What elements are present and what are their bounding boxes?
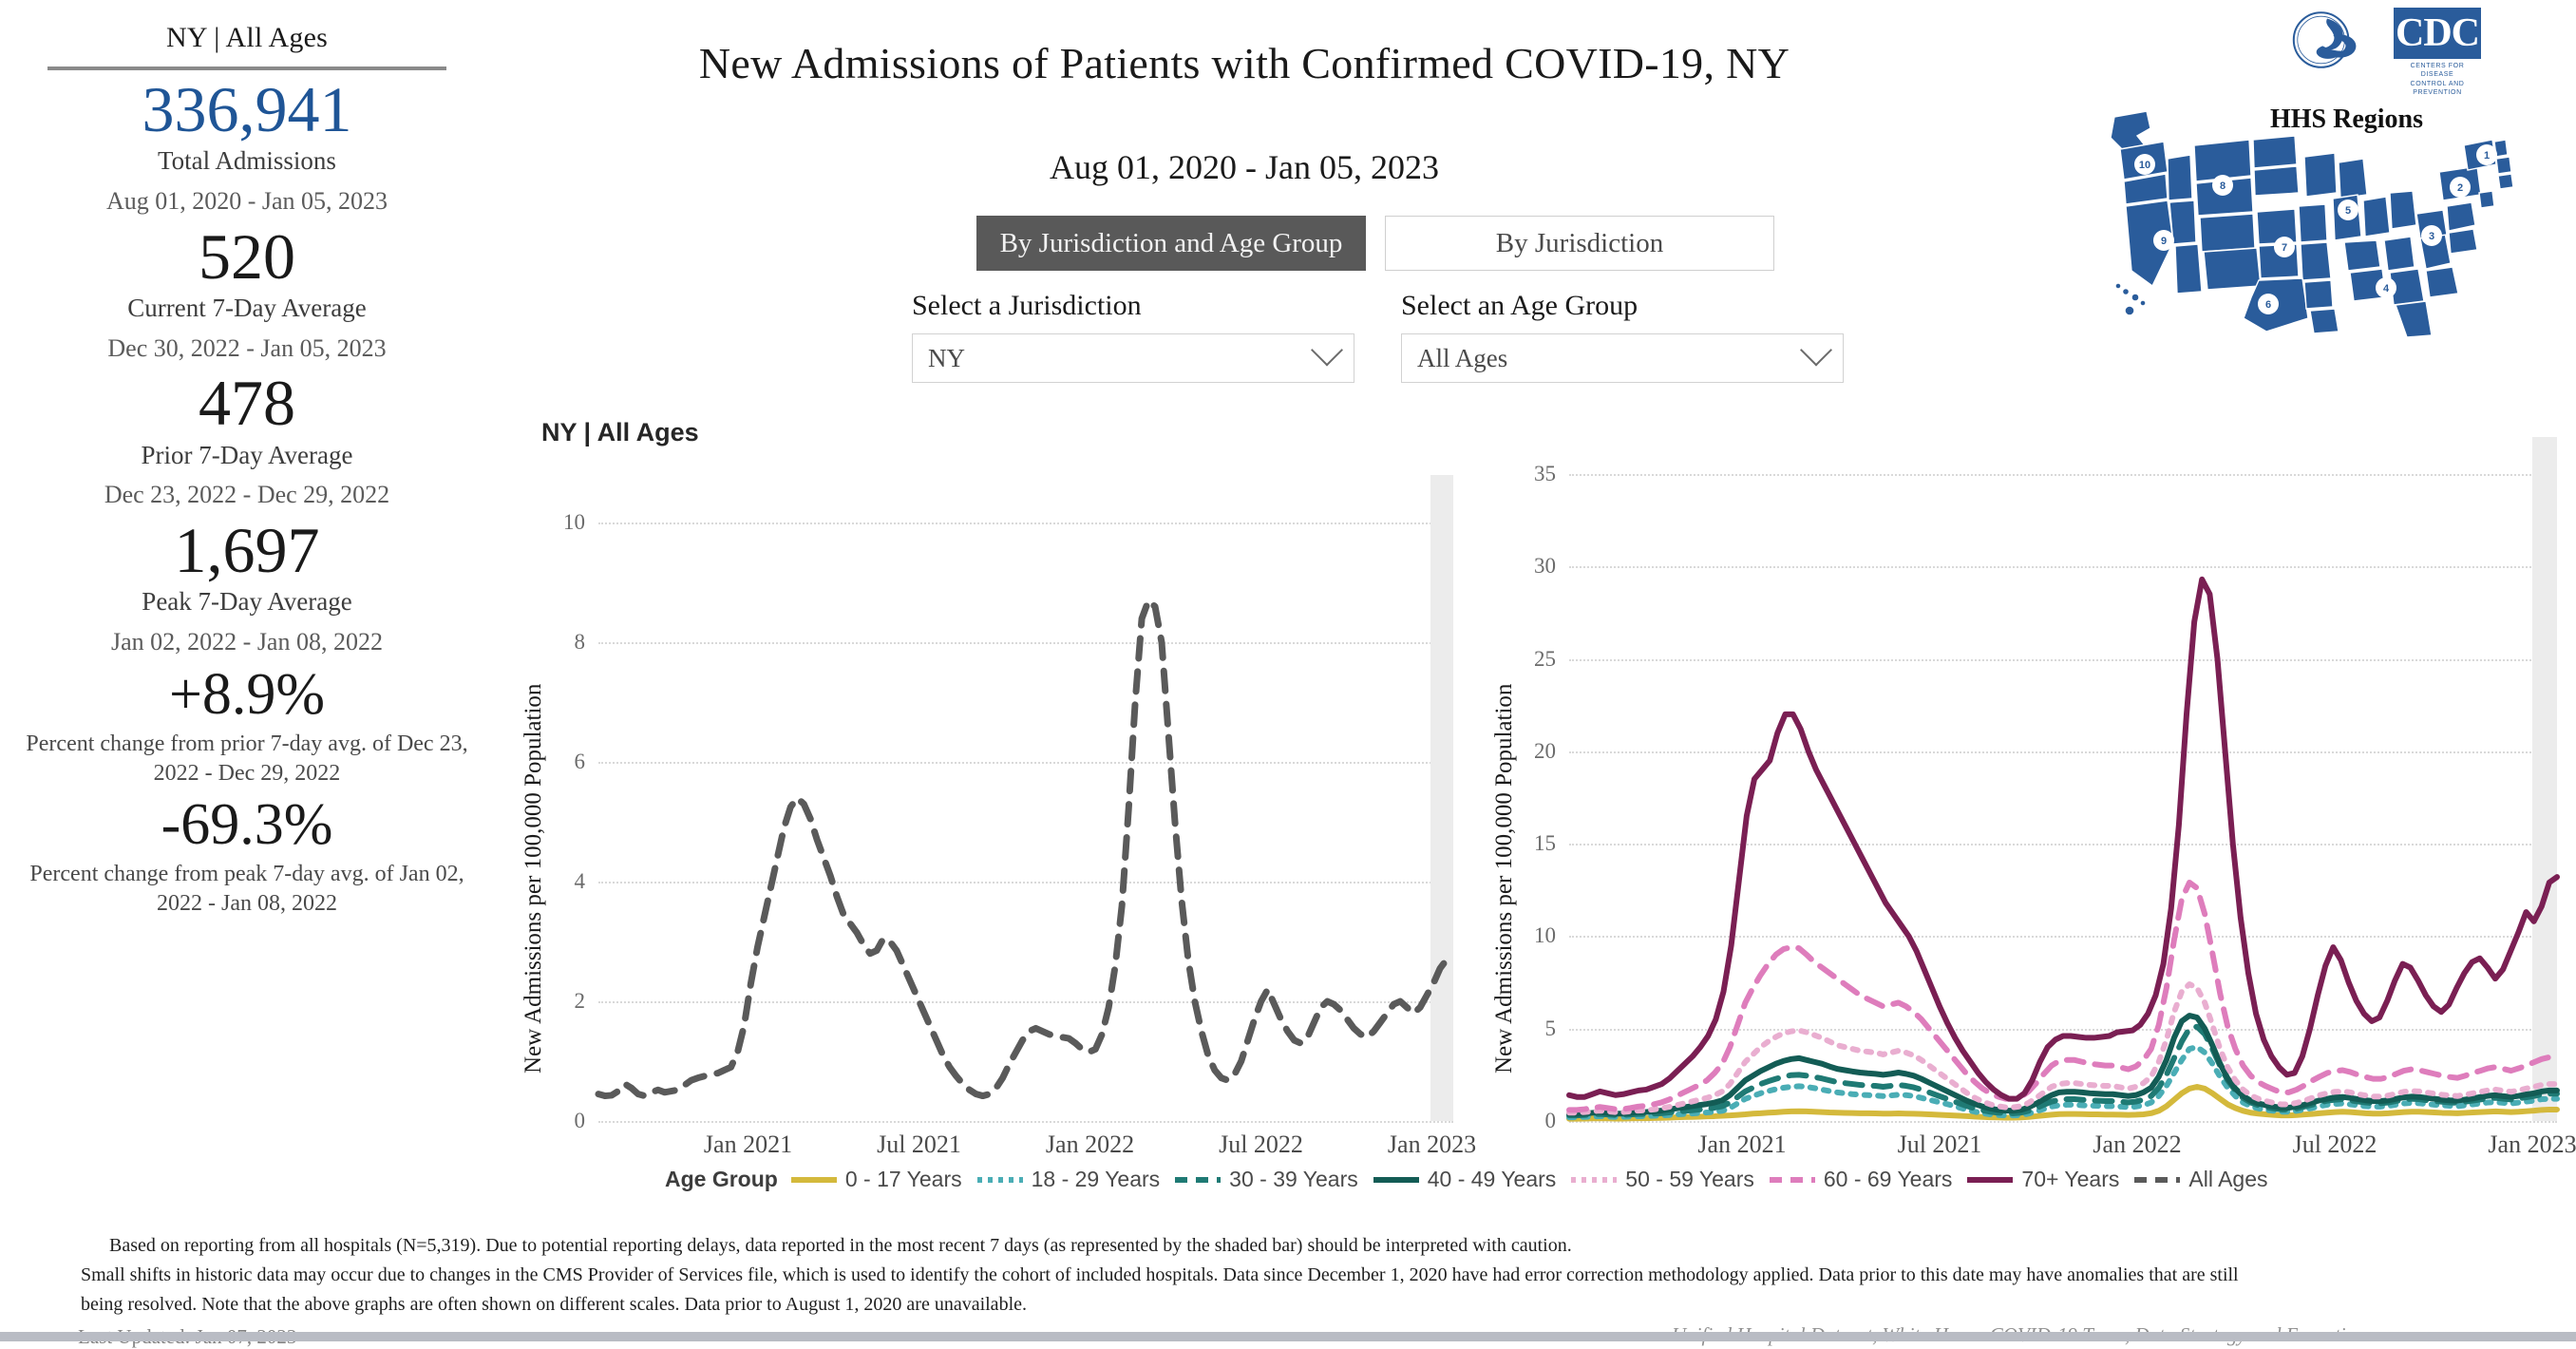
- legend-color-swatch: [977, 1177, 1023, 1183]
- legend-label: 50 - 59 Years: [1625, 1167, 1754, 1192]
- x-axis-tick-label: Jan 2022: [1046, 1130, 1134, 1159]
- legend-color-swatch: [1373, 1177, 1419, 1183]
- y-axis-tick-label: 6: [555, 750, 585, 774]
- series-line: [1569, 579, 2557, 1099]
- kpi-value: 478: [0, 370, 494, 437]
- svg-text:4: 4: [2383, 283, 2390, 294]
- legend-label: 30 - 39 Years: [1229, 1167, 1358, 1192]
- chart-series-svg: [598, 475, 1453, 1121]
- kpi-description: Percent change from peak 7-day avg. of J…: [0, 860, 494, 919]
- chart-left-y-axis-title: New Admissions per 100,000 Population: [521, 684, 547, 1073]
- kpi-block: 336,941Total AdmissionsAug 01, 2020 - Ja…: [0, 76, 494, 218]
- tab-by-jurisdiction[interactable]: By Jurisdiction: [1385, 216, 1774, 271]
- hhs-seal-logo: [2284, 2, 2370, 78]
- jurisdiction-select[interactable]: NY: [912, 333, 1354, 383]
- legend-item[interactable]: 50 - 59 Years: [1571, 1167, 1754, 1192]
- age-group-label: Select an Age Group: [1401, 290, 1844, 322]
- x-axis-tick-label: Jul 2021: [877, 1130, 961, 1159]
- x-axis-tick-label: Jul 2022: [2293, 1130, 2377, 1159]
- svg-text:5: 5: [2345, 205, 2351, 217]
- footnotes: Based on reporting from all hospitals (N…: [0, 1231, 2576, 1320]
- svg-text:6: 6: [2265, 299, 2271, 311]
- svg-text:1: 1: [2484, 150, 2490, 161]
- cdc-wordmark: CDC: [2394, 8, 2481, 59]
- kpi-divider: [47, 66, 446, 70]
- kpi-value: 336,941: [0, 76, 494, 143]
- series-line: [598, 600, 1453, 1095]
- svg-text:10: 10: [2139, 160, 2150, 171]
- x-axis-tick-label: Jan 2023: [1388, 1130, 1476, 1159]
- page-title: New Admissions of Patients with Confirme…: [494, 38, 1995, 88]
- legend-color-swatch: [1571, 1177, 1617, 1183]
- kpi-block: 478Prior 7-Day AverageDec 23, 2022 - Dec…: [0, 370, 494, 511]
- y-axis-tick-label: 10: [555, 510, 585, 535]
- cdc-tagline: CENTERS FOR DISEASECONTROL AND PREVENTIO…: [2394, 62, 2481, 98]
- y-axis-tick-label: 35: [1522, 462, 1556, 486]
- kpi-date-range: Dec 23, 2022 - Dec 29, 2022: [0, 480, 494, 511]
- legend-item[interactable]: 18 - 29 Years: [977, 1167, 1161, 1192]
- kpi-label: Peak 7-Day Average: [0, 586, 494, 618]
- y-axis-tick-label: 8: [555, 630, 585, 655]
- x-axis-tick-label: Jul 2021: [1898, 1130, 1982, 1159]
- kpi-block: -69.3%Percent change from peak 7-day avg…: [0, 794, 494, 919]
- kpi-value: -69.3%: [0, 794, 494, 856]
- svg-text:8: 8: [2220, 180, 2226, 192]
- age-group-select[interactable]: All Ages: [1401, 333, 1844, 383]
- grid-line: [1569, 1121, 2557, 1123]
- footnote-line-3: being resolved. Note that the above grap…: [0, 1290, 2576, 1320]
- legend-color-swatch: [1770, 1177, 1815, 1183]
- kpi-block: 1,697Peak 7-Day AverageJan 02, 2022 - Ja…: [0, 517, 494, 658]
- y-axis-tick-label: 25: [1522, 647, 1556, 672]
- footnote-line-2: Small shifts in historic data may occur …: [0, 1261, 2576, 1290]
- view-mode-toggle[interactable]: By Jurisdiction and Age Group By Jurisdi…: [976, 216, 1774, 271]
- bottom-band: [0, 1332, 2576, 1341]
- chart-left-plot: 0246810: [598, 475, 1453, 1121]
- svg-text:7: 7: [2282, 242, 2287, 254]
- age-group-legend: Age Group 0 - 17 Years18 - 29 Years30 - …: [665, 1167, 2280, 1192]
- legend-item[interactable]: 40 - 49 Years: [1373, 1167, 1557, 1192]
- legend-color-swatch: [2134, 1177, 2180, 1183]
- svg-text:2: 2: [2457, 182, 2463, 194]
- grid-line: [598, 1121, 1453, 1123]
- svg-text:3: 3: [2429, 231, 2434, 242]
- chart-series-svg: [1569, 437, 2557, 1121]
- legend-color-swatch: [1967, 1177, 2013, 1183]
- series-line: [1569, 883, 2557, 1110]
- cdc-logo: CDC CENTERS FOR DISEASECONTROL AND PREVE…: [2394, 8, 2498, 82]
- y-axis-tick-label: 2: [555, 989, 585, 1014]
- hhs-regions-map: 10 8 9 7 6 5 4 3 2 1: [2109, 100, 2517, 337]
- legend-item-list: 0 - 17 Years18 - 29 Years30 - 39 Years40…: [791, 1167, 2283, 1192]
- y-axis-tick-label: 0: [555, 1109, 585, 1133]
- kpi-block: +8.9%Percent change from prior 7-day avg…: [0, 664, 494, 788]
- y-axis-tick-label: 15: [1522, 831, 1556, 856]
- y-axis-tick-label: 5: [1522, 1016, 1556, 1041]
- kpi-description: Percent change from prior 7-day avg. of …: [0, 730, 494, 788]
- chart-right-y-axis-title: New Admissions per 100,000 Population: [1491, 684, 1518, 1073]
- x-axis-tick-label: Jan 2023: [2488, 1130, 2576, 1159]
- legend-title: Age Group: [665, 1167, 778, 1192]
- legend-label: 70+ Years: [2021, 1167, 2119, 1192]
- legend-color-swatch: [1175, 1177, 1221, 1183]
- y-axis-tick-label: 4: [555, 869, 585, 894]
- kpi-label: Prior 7-Day Average: [0, 440, 494, 472]
- legend-label: 60 - 69 Years: [1824, 1167, 1953, 1192]
- hhs-regions-panel: CDC CENTERS FOR DISEASECONTROL AND PREVE…: [2014, 0, 2576, 351]
- jurisdiction-control: Select a Jurisdiction NY: [912, 290, 1354, 383]
- legend-color-swatch: [791, 1177, 837, 1183]
- kpi-date-range: Jan 02, 2022 - Jan 08, 2022: [0, 627, 494, 658]
- legend-item[interactable]: 0 - 17 Years: [791, 1167, 962, 1192]
- jurisdiction-label: Select a Jurisdiction: [912, 290, 1354, 322]
- kpi-block: 520Current 7-Day AverageDec 30, 2022 - J…: [0, 223, 494, 365]
- kpi-panel: NY | All Ages 336,941Total AdmissionsAug…: [0, 0, 494, 1216]
- kpi-value: 520: [0, 223, 494, 291]
- chart-right-plot: 05101520253035: [1569, 437, 2557, 1121]
- y-axis-tick-label: 10: [1522, 923, 1556, 948]
- legend-item[interactable]: 70+ Years: [1967, 1167, 2119, 1192]
- y-axis-tick-label: 30: [1522, 554, 1556, 579]
- legend-label: 40 - 49 Years: [1428, 1167, 1557, 1192]
- x-axis-tick-label: Jan 2022: [2093, 1130, 2181, 1159]
- kpi-value: +8.9%: [0, 664, 494, 726]
- footnote-line-1: Based on reporting from all hospitals (N…: [0, 1231, 2576, 1261]
- age-group-selected-value: All Ages: [1417, 344, 1805, 373]
- x-axis-tick-label: Jan 2021: [704, 1130, 792, 1159]
- header-date-range: Aug 01, 2020 - Jan 05, 2023: [494, 147, 1995, 187]
- kpi-label: Current 7-Day Average: [0, 293, 494, 325]
- chart-left-subtitle: NY | All Ages: [541, 418, 699, 447]
- legend-item[interactable]: 30 - 39 Years: [1175, 1167, 1358, 1192]
- kpi-date-range: Aug 01, 2020 - Jan 05, 2023: [0, 186, 494, 218]
- tab-by-jurisdiction-and-age-group[interactable]: By Jurisdiction and Age Group: [976, 216, 1366, 271]
- svg-text:9: 9: [2161, 236, 2167, 247]
- chart-by-age-group: New Admissions per 100,000 Population 05…: [1482, 418, 2574, 1149]
- legend-label: All Ages: [2188, 1167, 2267, 1192]
- legend-item[interactable]: 60 - 69 Years: [1770, 1167, 1953, 1192]
- y-axis-tick-label: 20: [1522, 739, 1556, 764]
- age-group-control: Select an Age Group All Ages: [1401, 290, 1844, 383]
- kpi-date-range: Dec 30, 2022 - Jan 05, 2023: [0, 333, 494, 365]
- kpi-block-list: 336,941Total AdmissionsAug 01, 2020 - Ja…: [0, 76, 494, 920]
- kpi-panel-header: NY | All Ages: [0, 0, 494, 54]
- kpi-value: 1,697: [0, 517, 494, 584]
- legend-label: 0 - 17 Years: [845, 1167, 962, 1192]
- x-axis-tick-label: Jan 2021: [1697, 1130, 1786, 1159]
- y-axis-tick-label: 0: [1522, 1109, 1556, 1133]
- chart-all-ages: NY | All Ages New Admissions per 100,000…: [503, 418, 1463, 1149]
- x-axis-tick-label: Jul 2022: [1219, 1130, 1303, 1159]
- chevron-down-icon: [1800, 334, 1832, 367]
- jurisdiction-selected-value: NY: [928, 344, 1316, 373]
- kpi-label: Total Admissions: [0, 145, 494, 178]
- legend-item[interactable]: All Ages: [2134, 1167, 2267, 1192]
- legend-label: 18 - 29 Years: [1032, 1167, 1161, 1192]
- chevron-down-icon: [1311, 334, 1343, 367]
- series-line: [1569, 1016, 2557, 1114]
